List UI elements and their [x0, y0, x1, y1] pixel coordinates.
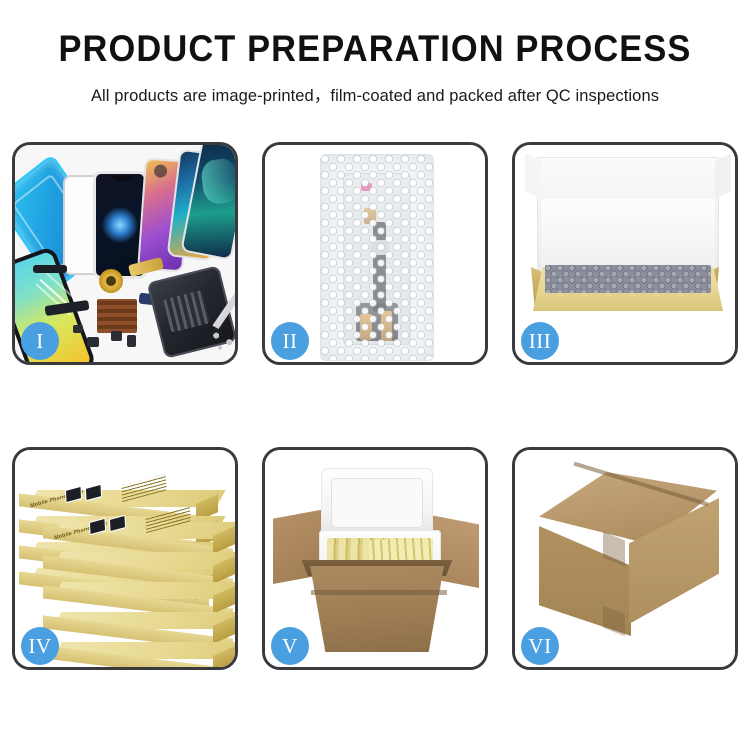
stacked-box-front-4 — [43, 612, 235, 638]
logic-board-part — [97, 299, 137, 333]
header: PRODUCT PREPARATION PROCESS All products… — [0, 0, 750, 106]
process-step-4[interactable]: Mobile Phone Spare Parts — [12, 447, 238, 670]
box-foam-backdrop — [541, 199, 715, 269]
step-badge-5: V — [271, 627, 309, 665]
carton-inner-edge — [311, 590, 447, 595]
step-badge-4: IV — [21, 627, 59, 665]
process-step-6[interactable]: VI — [512, 447, 738, 670]
lcd-bottom-components — [356, 303, 398, 340]
step-badge-3: III — [521, 322, 559, 360]
chip-part-4 — [73, 325, 83, 333]
page-subtitle: All products are image-printed，film-coat… — [11, 81, 739, 106]
wireless-coil-part — [99, 269, 123, 293]
stacked-box-front-2 — [43, 552, 235, 578]
process-step-3[interactable]: III — [512, 142, 738, 365]
speaker-bar-part — [33, 265, 67, 273]
lcd-screen-inside — [343, 173, 411, 345]
lcd-flex-cable — [373, 222, 386, 312]
screws-part — [211, 329, 235, 351]
process-step-grid: I II — [12, 142, 738, 670]
step-badge-6: VI — [521, 627, 559, 665]
stacked-box-front-3 — [43, 582, 235, 608]
process-step-5[interactable]: V — [262, 447, 488, 670]
page-title: PRODUCT PREPARATION PROCESS — [26, 30, 724, 67]
chip-part-3 — [87, 337, 99, 347]
pink-sticker — [361, 183, 372, 191]
carton-body — [301, 566, 453, 652]
bubble-wrap-bag — [321, 155, 433, 360]
chip-part-1 — [111, 331, 122, 341]
page-root: PRODUCT PREPARATION PROCESS All products… — [0, 0, 750, 750]
stacked-box-front-5 — [43, 642, 235, 667]
grey-foam-padding — [545, 265, 711, 293]
process-step-2[interactable]: II — [262, 142, 488, 365]
process-step-1[interactable]: I — [12, 142, 238, 365]
foam-cooler-lid — [321, 468, 433, 536]
chip-part-2 — [127, 335, 136, 347]
step-badge-2: II — [271, 322, 309, 360]
step-badge-1: I — [21, 322, 59, 360]
